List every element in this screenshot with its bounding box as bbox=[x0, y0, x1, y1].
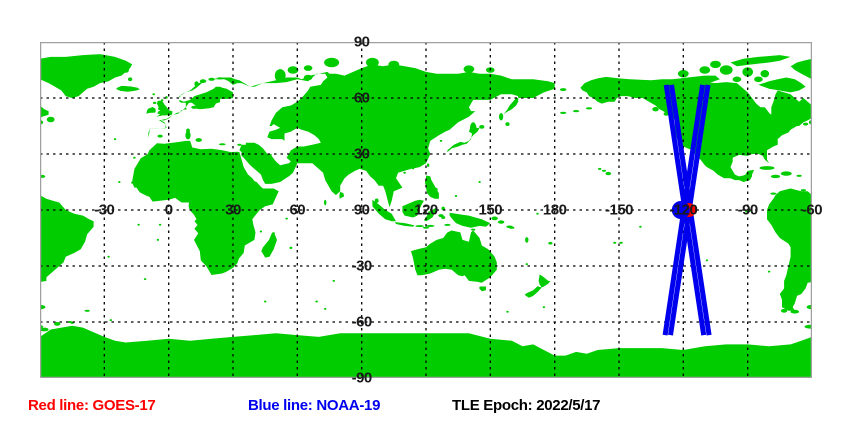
lon-tick-7: 180 bbox=[543, 203, 567, 218]
lon-tick-10: -90 bbox=[738, 203, 758, 218]
lon-tick-9: -120 bbox=[669, 203, 697, 218]
satellite-ground-track-map: -300306090120150180-150-120-90-60906030-… bbox=[0, 0, 850, 425]
lat-tick-6: -90 bbox=[352, 371, 372, 386]
world-map-panel: -300306090120150180-150-120-90-60906030-… bbox=[40, 42, 812, 378]
lon-tick-4: 90 bbox=[354, 203, 370, 218]
legend: Red line: GOES-17 Blue line: NOAA-19 TLE… bbox=[0, 392, 850, 425]
lon-tick-0: -30 bbox=[94, 203, 114, 218]
lat-tick-1: 60 bbox=[354, 91, 370, 106]
lon-tick-2: 30 bbox=[225, 203, 241, 218]
lon-tick-3: 60 bbox=[289, 203, 305, 218]
legend-noaa19: Blue line: NOAA-19 bbox=[248, 398, 380, 413]
lon-tick-6: 150 bbox=[479, 203, 503, 218]
lon-tick-8: -150 bbox=[605, 203, 633, 218]
lat-tick-5: -60 bbox=[352, 315, 372, 330]
lon-tick-5: 120 bbox=[414, 203, 438, 218]
legend-tle-epoch: TLE Epoch: 2022/5/17 bbox=[452, 398, 600, 413]
lat-tick-2: 30 bbox=[354, 147, 370, 162]
lat-tick-0: 90 bbox=[354, 35, 370, 50]
legend-goes17: Red line: GOES-17 bbox=[28, 398, 155, 413]
lon-tick-1: 0 bbox=[165, 203, 173, 218]
lat-tick-4: -30 bbox=[352, 259, 372, 274]
lon-tick-11: -60 bbox=[802, 203, 822, 218]
